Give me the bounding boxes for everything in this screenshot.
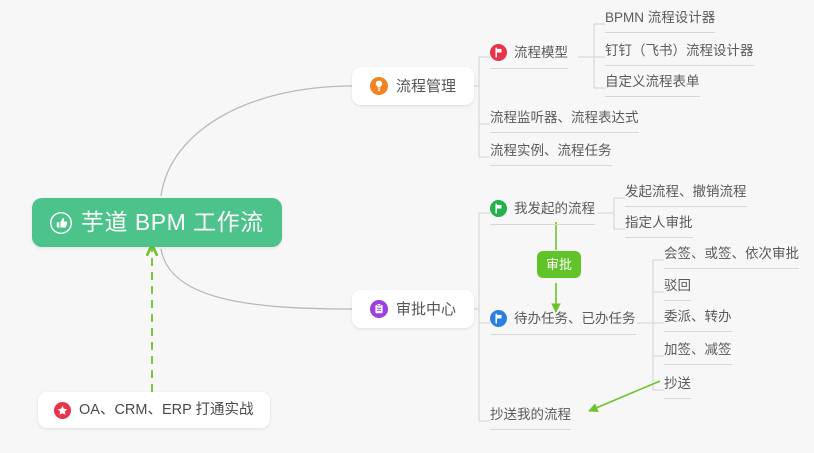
node-bpmn-designer[interactable]: BPMN 流程设计器 — [605, 11, 715, 33]
node-label-dingtalk-feishu-designer: 钉钉（飞书）流程设计器 — [605, 44, 754, 58]
node-label-add-remove-sign: 加签、减签 — [664, 343, 732, 357]
node-label-process-model: 流程模型 — [514, 46, 568, 60]
flag-icon — [490, 200, 507, 217]
todo-task-links — [637, 260, 664, 390]
node-process-listener[interactable]: 流程监听器、流程表达式 — [490, 111, 639, 133]
lightbulb-icon — [370, 77, 388, 95]
node-label-cc: 抄送 — [664, 377, 691, 391]
node-dingtalk-feishu-designer[interactable]: 钉钉（飞书）流程设计器 — [605, 44, 754, 66]
node-label-assignee-approval: 指定人审批 — [625, 216, 693, 230]
bottom-card-integration[interactable]: OA、CRM、ERP 打通实战 — [38, 392, 270, 428]
node-label-process-instance: 流程实例、流程任务 — [490, 144, 612, 158]
mindmap-canvas: 芋道 BPM 工作流 流程管理 审批中心 — [0, 0, 814, 453]
branch-node-approval-center[interactable]: 审批中心 — [352, 290, 474, 328]
node-cc-to-me-process[interactable]: 抄送我的流程 — [490, 408, 571, 430]
node-label-countersign: 会签、或签、依次审批 — [664, 247, 799, 261]
star-icon — [54, 402, 71, 419]
node-label-my-initiated-process: 我发起的流程 — [514, 202, 595, 216]
node-delegate-transfer[interactable]: 委派、转办 — [664, 310, 732, 332]
node-reject[interactable]: 驳回 — [664, 279, 691, 301]
node-assignee-approval[interactable]: 指定人审批 — [625, 216, 693, 238]
node-todo-done-task[interactable]: 待办任务、已办任务 — [490, 310, 636, 335]
node-custom-process-form[interactable]: 自定义流程表单 — [605, 75, 700, 97]
thumbs-up-icon — [50, 212, 72, 234]
node-label-custom-process-form: 自定义流程表单 — [605, 75, 700, 89]
process-model-links — [578, 24, 605, 88]
node-cc[interactable]: 抄送 — [664, 377, 691, 399]
node-label-cc-to-me-process: 抄送我的流程 — [490, 408, 571, 422]
my-initiated-links — [598, 198, 625, 229]
node-label-bpmn-designer: BPMN 流程设计器 — [605, 11, 715, 25]
root-label: 芋道 BPM 工作流 — [81, 211, 264, 234]
branch-label-process-management: 流程管理 — [396, 79, 456, 94]
node-process-instance[interactable]: 流程实例、流程任务 — [490, 144, 612, 166]
node-label-process-listener: 流程监听器、流程表达式 — [490, 111, 639, 125]
approval-tag[interactable]: 审批 — [537, 251, 581, 278]
flag-icon — [490, 310, 507, 327]
branch-node-process-management[interactable]: 流程管理 — [352, 67, 474, 105]
flag-icon — [490, 44, 507, 61]
node-label-reject: 驳回 — [664, 279, 691, 293]
node-add-remove-sign[interactable]: 加签、减签 — [664, 343, 732, 365]
node-countersign[interactable]: 会签、或签、依次审批 — [664, 247, 799, 269]
node-label-todo-done-task: 待办任务、已办任务 — [514, 312, 636, 326]
branch-label-approval-center: 审批中心 — [396, 302, 456, 317]
node-my-initiated-process[interactable]: 我发起的流程 — [490, 200, 595, 225]
node-label-delegate-transfer: 委派、转办 — [664, 310, 732, 324]
approval-tag-label: 审批 — [546, 257, 572, 272]
node-label-start-cancel-process: 发起流程、撤销流程 — [625, 185, 747, 199]
clipboard-icon — [370, 300, 388, 318]
bottom-card-label: OA、CRM、ERP 打通实战 — [79, 403, 254, 418]
node-start-cancel-process[interactable]: 发起流程、撤销流程 — [625, 185, 747, 207]
node-process-model[interactable]: 流程模型 — [490, 44, 568, 69]
root-node[interactable]: 芋道 BPM 工作流 — [32, 198, 282, 247]
